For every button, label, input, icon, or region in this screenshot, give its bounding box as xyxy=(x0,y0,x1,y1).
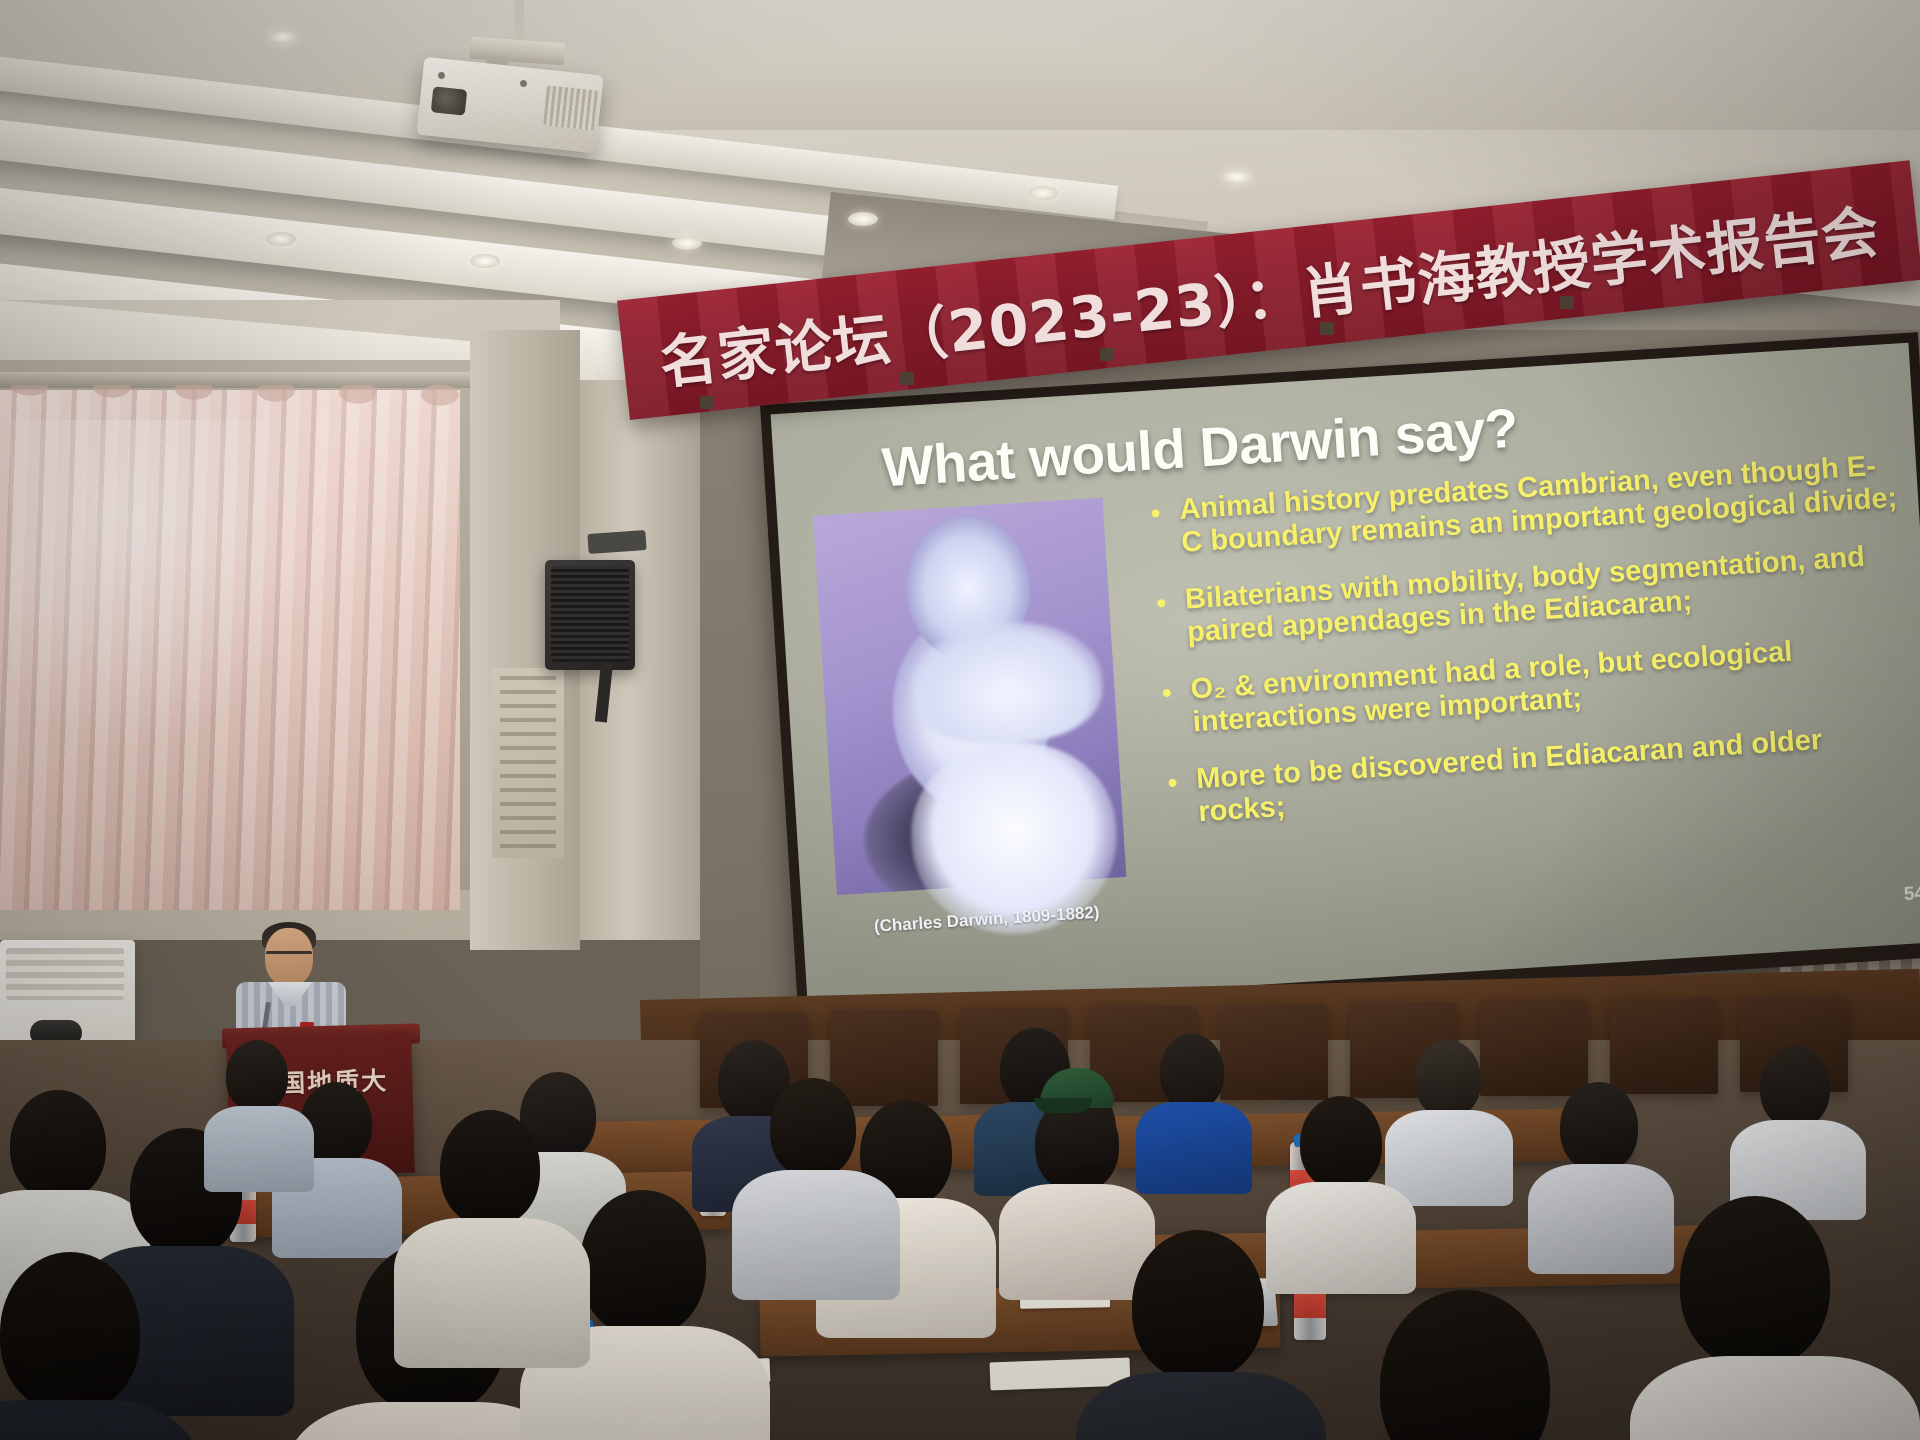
person-head xyxy=(1760,1046,1830,1128)
person-head xyxy=(10,1090,106,1200)
projector-bolt xyxy=(520,80,527,87)
ceiling-downlight-icon xyxy=(268,30,298,44)
projector-lens xyxy=(431,86,468,115)
lecture-hall-photo: What would Darwin say? (Charles Darwin, … xyxy=(0,0,1920,1440)
person-body xyxy=(999,1184,1155,1300)
person-head xyxy=(1415,1040,1481,1118)
darwin-portrait-image xyxy=(813,498,1126,895)
person-head xyxy=(580,1190,706,1336)
ceiling-downlight-icon xyxy=(1028,186,1058,200)
projector-bolt xyxy=(438,72,445,79)
projector-vent xyxy=(543,85,599,130)
stage-chair xyxy=(1220,1004,1328,1100)
ceiling-downlight-icon xyxy=(1222,170,1252,184)
person-head xyxy=(1300,1096,1382,1190)
darwin-hair xyxy=(908,616,1105,748)
person-body xyxy=(732,1170,900,1300)
stage-chair xyxy=(1610,998,1718,1094)
person-body xyxy=(1385,1110,1513,1206)
ceiling-downlight-icon xyxy=(848,212,878,226)
person-body xyxy=(204,1106,314,1192)
banner-clip xyxy=(700,396,714,409)
person-head xyxy=(1160,1034,1224,1110)
person-head xyxy=(226,1040,288,1112)
wall-vertical-art-panel xyxy=(492,668,564,858)
person-body xyxy=(394,1218,590,1368)
person-head xyxy=(0,1252,140,1412)
window-daylight-glow xyxy=(10,420,310,750)
ceiling-downlight-icon xyxy=(470,254,500,268)
person-body xyxy=(1528,1164,1674,1274)
person-head xyxy=(1132,1230,1264,1380)
banner-clip xyxy=(1560,296,1574,309)
speaker-bracket-top xyxy=(587,530,646,554)
baseball-cap-brim xyxy=(1034,1098,1092,1113)
projection-screen: What would Darwin say? (Charles Darwin, … xyxy=(771,343,1920,1013)
person-head xyxy=(770,1078,856,1178)
air-conditioner-vent xyxy=(6,948,124,1000)
banner-clip xyxy=(900,372,914,385)
slide-bullet: More to be discovered in Ediacaran and o… xyxy=(1153,719,1916,833)
presenter-glasses-icon xyxy=(266,951,312,964)
person-body xyxy=(1136,1102,1252,1194)
person-body xyxy=(1076,1372,1326,1440)
banner-clip xyxy=(1100,348,1114,361)
person-body xyxy=(1630,1356,1920,1440)
ceiling-downlight-icon xyxy=(266,232,296,246)
stage-chair xyxy=(830,1010,938,1106)
stage-chair xyxy=(1480,1000,1588,1096)
slide-number: 54 xyxy=(1903,883,1920,906)
person-head xyxy=(1560,1082,1638,1172)
banner-clip xyxy=(1320,322,1334,335)
person-body xyxy=(1266,1182,1416,1294)
ceiling-downlight-icon xyxy=(672,236,702,250)
projection-screen-frame: What would Darwin say? (Charles Darwin, … xyxy=(760,332,1920,1029)
person-head xyxy=(1680,1196,1830,1368)
person-head xyxy=(440,1110,540,1226)
speaker-grille xyxy=(551,566,629,662)
slide-bullet-list: Animal history predates Cambrian, even t… xyxy=(1136,449,1917,856)
